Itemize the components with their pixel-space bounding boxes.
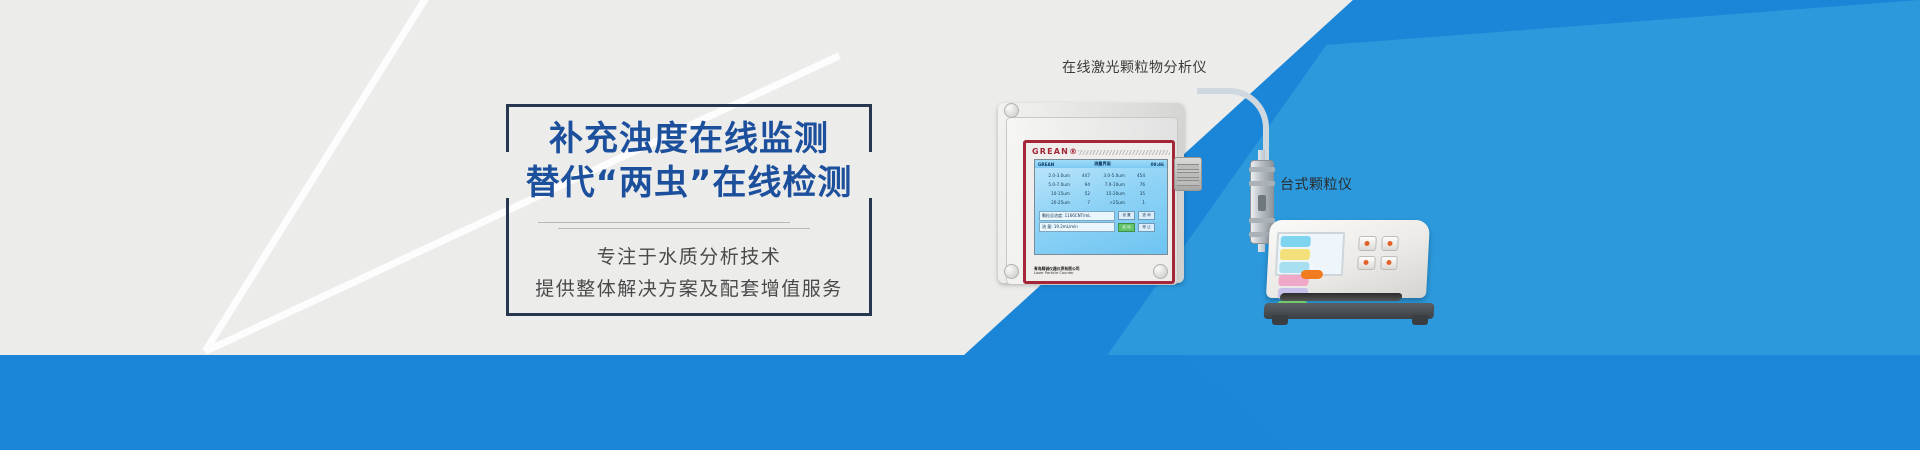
count-a: 94 xyxy=(1070,180,1094,189)
screen-status-bar: GREAN 测量界面 09:46 xyxy=(1035,160,1167,168)
headline-panel: 补充浊度在线监测 替代“两虫”在线检测 专注于水质分析技术 提供整体解决方案及配… xyxy=(506,104,872,316)
port-ring xyxy=(1177,164,1199,170)
divider-line-lower xyxy=(558,228,810,229)
count-b: 35 xyxy=(1125,189,1149,198)
table-row: 2.0-3.0um 447 3.0-5.0um 454 xyxy=(1039,171,1163,180)
flow-value: 流 量: 19.2mL/min xyxy=(1039,222,1115,232)
sensor-band xyxy=(1249,181,1275,186)
latch-knob-icon[interactable] xyxy=(1004,103,1019,118)
screen-button-stop[interactable]: 停 止 xyxy=(1138,223,1155,232)
nameplate-model: Laser Particle Counter xyxy=(1034,271,1074,275)
port-ring xyxy=(1177,180,1199,186)
divider-line-upper xyxy=(538,222,790,223)
analyzer-door: GREAN® GREAN 测量界面 09:46 2.0-3.0um 447 xyxy=(1006,117,1178,285)
flow-row: 流 量: 19.2mL/min 启 动 停 止 xyxy=(1039,222,1163,232)
count-a: 52 xyxy=(1070,189,1094,198)
frame-bottom-line xyxy=(506,313,872,316)
headline-line-1: 补充浊度在线监测 xyxy=(549,119,829,159)
analyzer-display-screen[interactable]: GREAN 测量界面 09:46 2.0-3.0um 447 3.0-5.0um… xyxy=(1034,159,1168,255)
screen-button-start[interactable]: 启 动 xyxy=(1118,223,1135,232)
screen-button-query[interactable]: 查 询 xyxy=(1138,211,1155,220)
count-b: 1 xyxy=(1125,198,1149,207)
keypad-button[interactable] xyxy=(1357,256,1375,271)
caption-bench-counter: 台式颗粒仪 xyxy=(1280,174,1353,194)
latch-knob-icon[interactable] xyxy=(1004,264,1019,279)
screen-tile xyxy=(1280,249,1311,260)
bench-top-particle-counter xyxy=(1262,210,1442,325)
analyzer-enclosure: GREAN® GREAN 测量界面 09:46 2.0-3.0um 447 xyxy=(998,103,1184,283)
latch-knob-icon[interactable] xyxy=(1153,264,1168,279)
table-row: 5.0-7.0um 94 7.0-10um 76 xyxy=(1039,180,1163,189)
range-a: 5.0-7.0um xyxy=(1039,180,1070,189)
divider-group xyxy=(506,222,872,234)
table-row: 10-15um 52 15-20um 35 xyxy=(1039,189,1163,198)
bench-foot xyxy=(1272,315,1288,325)
key-led-icon xyxy=(1387,241,1392,246)
range-a: 2.0-3.0um xyxy=(1039,171,1070,180)
headline-line-2: 替代“两虫”在线检测 xyxy=(506,162,872,204)
count-b: 454 xyxy=(1125,171,1149,180)
screen-button-setting[interactable]: 设 置 xyxy=(1118,211,1135,220)
range-b: >25um xyxy=(1094,198,1125,207)
sensor-band xyxy=(1249,167,1275,172)
screen-footer: 颗粒总浓度: 1166CNT/mL 设 置 查 询 流 量: 19.2mL/mi… xyxy=(1035,207,1167,234)
range-a: 20-25um xyxy=(1039,198,1070,207)
bench-display-screen[interactable] xyxy=(1275,232,1345,276)
range-b: 15-20um xyxy=(1094,189,1125,198)
sensor-window-icon xyxy=(1258,195,1266,211)
bench-base xyxy=(1264,303,1435,319)
screen-time: 09:46 xyxy=(1151,162,1164,167)
vent-hatch-icon xyxy=(1078,150,1170,155)
keypad-button[interactable] xyxy=(1358,236,1376,251)
count-a: 7 xyxy=(1070,198,1094,207)
range-b: 7.0-10um xyxy=(1094,180,1125,189)
concentration-value: 颗粒总浓度: 1166CNT/mL xyxy=(1039,211,1115,221)
caption-online-analyzer: 在线激光颗粒物分析仪 xyxy=(1062,57,1207,77)
concentration-row: 颗粒总浓度: 1166CNT/mL 设 置 查 询 xyxy=(1039,211,1163,221)
key-led-icon xyxy=(1365,241,1370,246)
bench-keypad[interactable] xyxy=(1357,236,1399,270)
keypad-button[interactable] xyxy=(1381,236,1399,251)
brand-logo: GREAN® xyxy=(1032,147,1078,156)
bench-foot xyxy=(1412,315,1428,325)
count-a: 447 xyxy=(1070,171,1094,180)
count-b: 76 xyxy=(1125,180,1149,189)
screen-title: 测量界面 xyxy=(1094,161,1111,167)
headline: 补充浊度在线监测 替代“两虫”在线检测 xyxy=(506,118,872,204)
range-a: 10-15um xyxy=(1039,189,1070,198)
subtitle-line-2: 提供整体解决方案及配套增值服务 xyxy=(506,276,872,302)
screen-tile xyxy=(1280,236,1311,247)
sample-slot xyxy=(1279,293,1402,301)
range-b: 3.0-5.0um xyxy=(1094,171,1125,180)
port-ring xyxy=(1177,172,1199,178)
analyzer-front-panel: GREAN® GREAN 测量界面 09:46 2.0-3.0um 447 xyxy=(1023,140,1175,284)
key-led-icon xyxy=(1386,260,1391,265)
key-led-icon xyxy=(1364,260,1369,265)
online-laser-particle-analyzer: GREAN® GREAN 测量界面 09:46 2.0-3.0um 447 xyxy=(998,95,1198,295)
nameplate: 青岛精诚仪器仪表有限公司 Laser Particle Counter xyxy=(1034,266,1094,277)
table-row: 20-25um 7 >25um 1 xyxy=(1039,198,1163,207)
screen-highlight-pill xyxy=(1301,270,1323,279)
banner-root: 补充浊度在线监测 替代“两虫”在线检测 专注于水质分析技术 提供整体解决方案及配… xyxy=(0,0,1920,450)
subtitle-line-1: 专注于水质分析技术 xyxy=(506,244,872,270)
particle-count-table: 2.0-3.0um 447 3.0-5.0um 454 5.0-7.0um 94… xyxy=(1035,168,1167,207)
screen-brand: GREAN xyxy=(1038,162,1054,167)
frame-top-line xyxy=(506,104,872,107)
keypad-button[interactable] xyxy=(1380,256,1398,271)
